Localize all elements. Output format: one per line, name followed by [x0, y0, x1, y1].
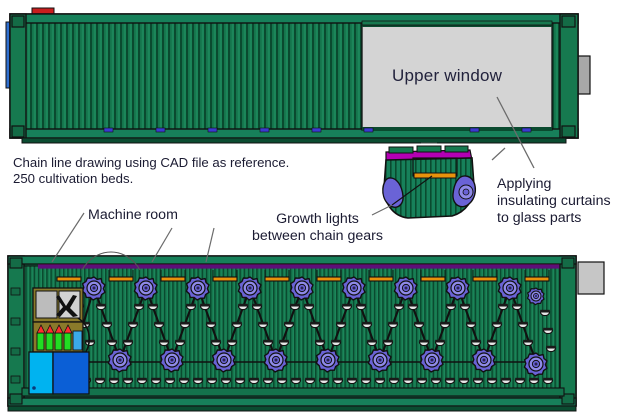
machine-room: [29, 288, 89, 394]
label-growth-lights: Growth lights between chain gears: [252, 211, 383, 245]
figure-canvas: Chain line drawing using CAD file as ref…: [0, 0, 643, 420]
label-insulating-curtains: Applying insulating curtains to glass pa…: [497, 176, 611, 226]
label-upper-window: Upper window: [392, 66, 502, 86]
top-elevation-view: [6, 8, 590, 168]
note-cad-reference: Chain line drawing using CAD file as ref…: [13, 155, 289, 186]
lower-cutaway-view: [8, 252, 604, 411]
cross-section-detail: [372, 143, 505, 218]
label-machine-room: Machine room: [88, 207, 178, 224]
